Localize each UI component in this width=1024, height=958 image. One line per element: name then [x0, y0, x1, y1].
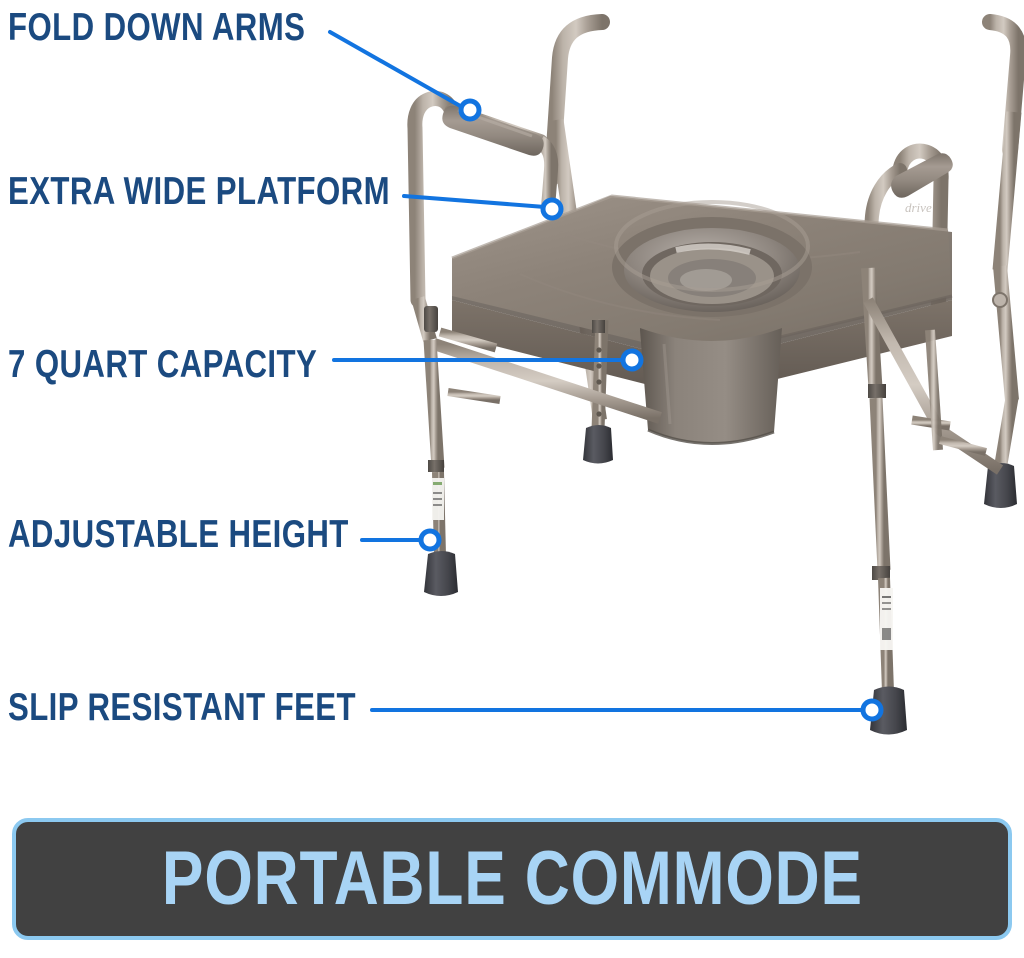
rubber-foot-rear-right [984, 463, 1017, 508]
feature-label-extra-wide-platform: EXTRA WIDE PLATFORM [8, 172, 390, 211]
product-infographic: drive [0, 0, 1024, 958]
feature-label-quart-capacity: 7 QUART CAPACITY [8, 345, 317, 384]
feature-label-fold-down-arms: FOLD DOWN ARMS [8, 8, 305, 47]
svg-text:drive: drive [905, 200, 932, 215]
right-side-frame [868, 268, 1000, 735]
rubber-foot-front-right [870, 687, 907, 735]
rubber-foot-front-left [424, 551, 458, 596]
bucket [640, 328, 782, 444]
rubber-foot-center [583, 425, 613, 464]
lower-cross-brace [448, 392, 500, 400]
product-image-commode-chair: drive [0, 0, 1024, 958]
feature-label-adjustable-height: ADJUSTABLE HEIGHT [8, 515, 349, 554]
feature-label-slip-resistant-feet: SLIP RESISTANT FEET [8, 688, 356, 727]
product-title-banner: PORTABLE COMMODE [12, 818, 1012, 940]
product-title-text: PORTABLE COMMODE [162, 841, 863, 917]
